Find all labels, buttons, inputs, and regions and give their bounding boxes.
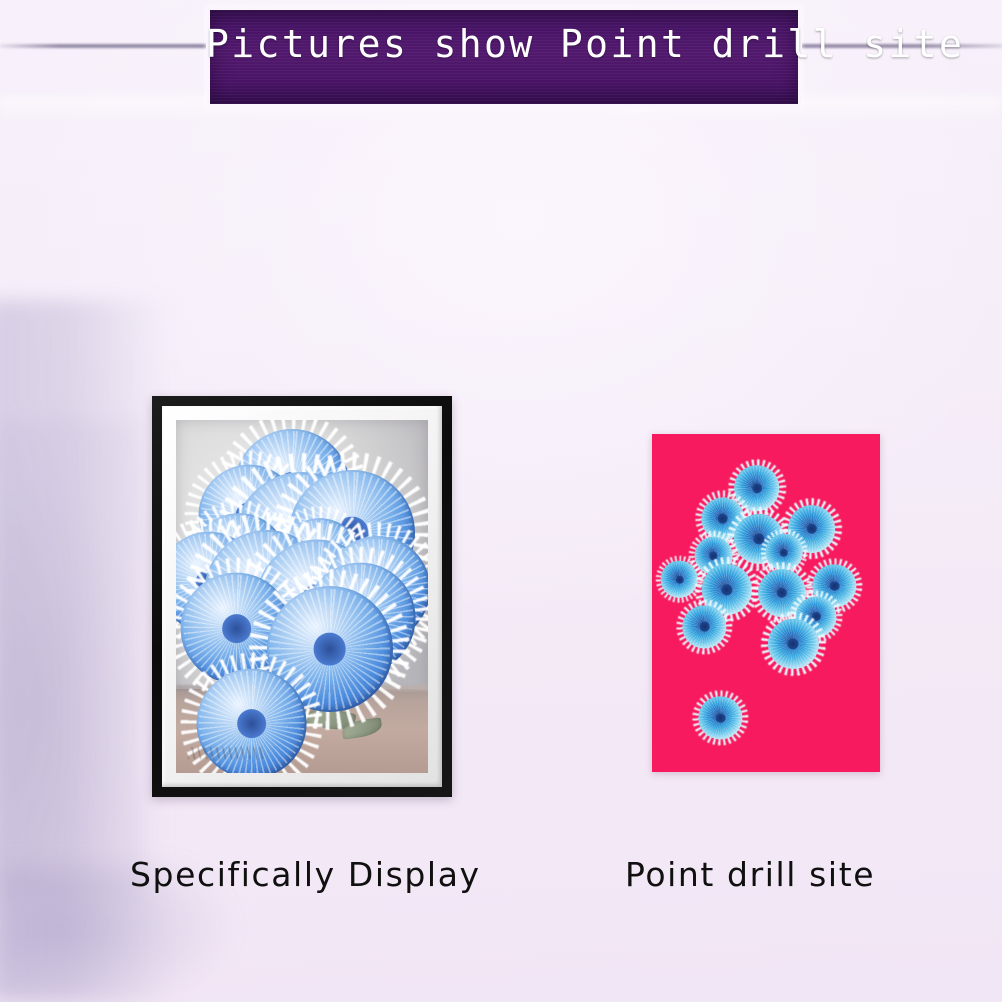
framed-painting	[152, 396, 452, 797]
product-image-canvas: Pictures show Point drill site	[0, 0, 1002, 1002]
header-banner: Pictures show Point drill site	[206, 6, 802, 110]
banner-title-text: Pictures show Point drill site	[206, 20, 802, 68]
drill-dot-core	[718, 514, 728, 524]
drill-dot-core	[777, 588, 788, 599]
drill-dot-core	[830, 581, 840, 591]
caption-specifically-display: Specifically Display	[130, 855, 481, 894]
drill-dot	[683, 605, 726, 648]
drill-dot-core	[780, 548, 788, 556]
drill-dot	[661, 561, 697, 597]
drill-dot-core	[700, 622, 710, 632]
drill-site-panel	[652, 434, 880, 772]
drill-dot-core	[806, 523, 817, 534]
drill-dot-core	[788, 638, 799, 649]
drill-dot	[699, 696, 742, 739]
painting-bloom-core	[222, 614, 251, 643]
drill-dot-core	[752, 483, 762, 493]
painting-artwork	[176, 420, 428, 773]
drill-dot-core	[722, 584, 733, 595]
drill-dot-core	[675, 575, 683, 583]
drill-dot-core	[716, 713, 726, 723]
drill-dot	[768, 618, 818, 668]
painting-bloom-core	[237, 709, 266, 738]
caption-point-drill-site: Point drill site	[625, 855, 875, 894]
painting-signature	[188, 747, 264, 759]
painting-bloom-core	[313, 633, 346, 666]
